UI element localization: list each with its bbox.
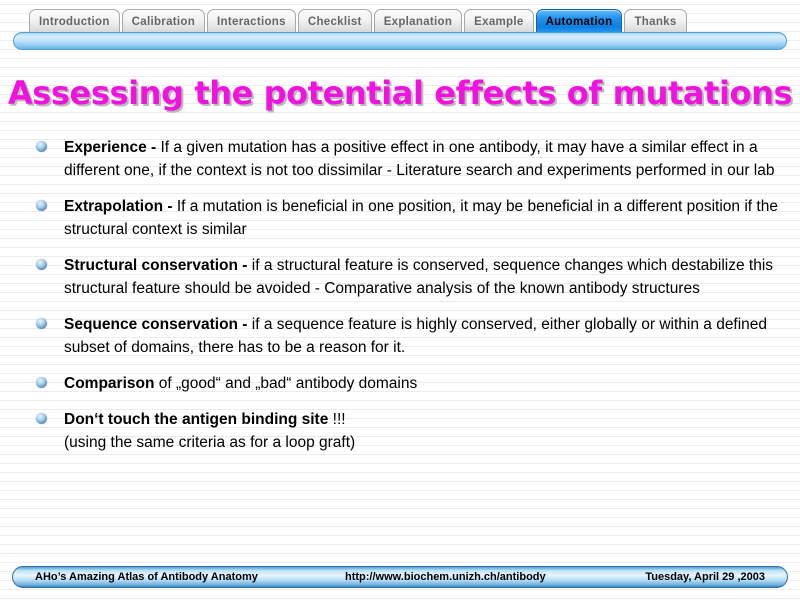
tab-label: Interactions: [217, 16, 286, 28]
list-item: Sequence conservation - if a sequence fe…: [36, 313, 778, 359]
bullet-sphere-icon: [36, 377, 47, 388]
footer-title: AHo’s Amazing Atlas of Antibody Anatomy: [35, 571, 258, 583]
list-item-text: Extrapolation - If a mutation is benefic…: [64, 195, 778, 241]
list-item-text: Don‘t touch the antigen binding site !!!…: [64, 408, 778, 454]
list-item-lead: Sequence conservation -: [64, 316, 247, 333]
bullet-list: Experience - If a given mutation has a p…: [36, 136, 778, 467]
list-item-body: of „good“ and „bad“ antibody domains: [154, 375, 417, 392]
list-item: Comparison of „good“ and „bad“ antibody …: [36, 372, 778, 395]
tab-thanks[interactable]: Thanks: [624, 9, 686, 34]
list-item: Structural conservation - if a structura…: [36, 254, 778, 300]
footer-date: Tuesday, April 29 ,2003: [645, 571, 765, 583]
list-item-lead: Experience -: [64, 139, 156, 156]
list-item-lead: Don‘t touch the antigen binding site: [64, 411, 328, 428]
list-item-lead: Structural conservation -: [64, 257, 247, 274]
tab-explanation[interactable]: Explanation: [374, 9, 462, 34]
bullet-sphere-icon: [36, 318, 47, 329]
tab-label: Automation: [546, 16, 613, 28]
list-item-text: Experience - If a given mutation has a p…: [64, 136, 778, 182]
footer-url[interactable]: http://www.biochem.unizh.ch/antibody: [345, 571, 546, 583]
tab-calibration[interactable]: Calibration: [122, 9, 205, 34]
tab-label: Checklist: [308, 16, 362, 28]
page-title: Assessing the potential effects of mutat…: [0, 74, 800, 112]
bullet-sphere-icon: [36, 259, 47, 270]
bullet-sphere-icon: [36, 141, 47, 152]
tab-label: Introduction: [39, 16, 110, 28]
tab-checklist[interactable]: Checklist: [298, 9, 372, 34]
tab-label: Thanks: [634, 16, 676, 28]
list-item: Don‘t touch the antigen binding site !!!…: [36, 408, 778, 454]
list-item-text: Sequence conservation - if a sequence fe…: [64, 313, 778, 359]
header-divider-bar: [13, 32, 787, 50]
list-item: Extrapolation - If a mutation is benefic…: [36, 195, 778, 241]
tab-example[interactable]: Example: [464, 9, 533, 34]
list-item-lead: Comparison: [64, 375, 154, 392]
bullet-sphere-icon: [36, 200, 47, 211]
tab-label: Explanation: [384, 16, 452, 28]
tab-label: Example: [474, 16, 523, 28]
list-item-text: Comparison of „good“ and „bad“ antibody …: [64, 372, 778, 395]
list-item-body: If a given mutation has a positive effec…: [64, 139, 775, 179]
list-item-text: Structural conservation - if a structura…: [64, 254, 778, 300]
footer-bar: AHo’s Amazing Atlas of Antibody Anatomy …: [12, 566, 788, 588]
tab-interactions[interactable]: Interactions: [207, 9, 296, 34]
bullet-sphere-icon: [36, 413, 47, 424]
tab-automation[interactable]: Automation: [536, 9, 623, 34]
list-item-lead: Extrapolation -: [64, 198, 173, 215]
tab-label: Calibration: [132, 16, 195, 28]
tab-introduction[interactable]: Introduction: [29, 9, 120, 34]
tab-bar: IntroductionCalibrationInteractionsCheck…: [0, 0, 800, 34]
list-item: Experience - If a given mutation has a p…: [36, 136, 778, 182]
